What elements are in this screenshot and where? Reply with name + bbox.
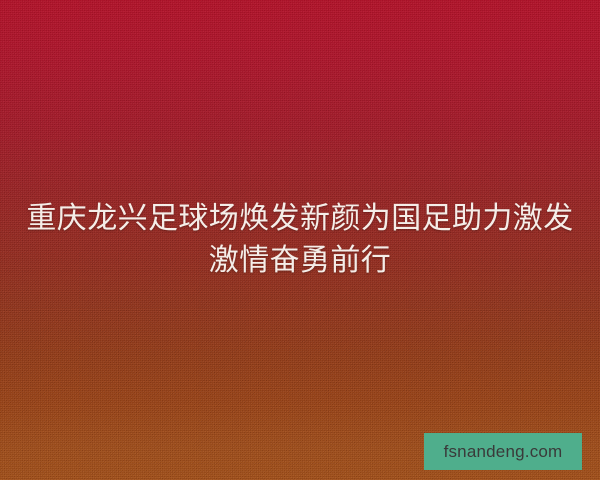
watermark-label: fsnandeng.com	[444, 443, 563, 460]
poster-canvas: 重庆龙兴足球场焕发新颜为国足助力激发激情奋勇前行 fsnandeng.com	[0, 0, 600, 480]
poster-headline: 重庆龙兴足球场焕发新颜为国足助力激发激情奋勇前行	[0, 198, 600, 282]
watermark-badge: fsnandeng.com	[424, 433, 582, 470]
